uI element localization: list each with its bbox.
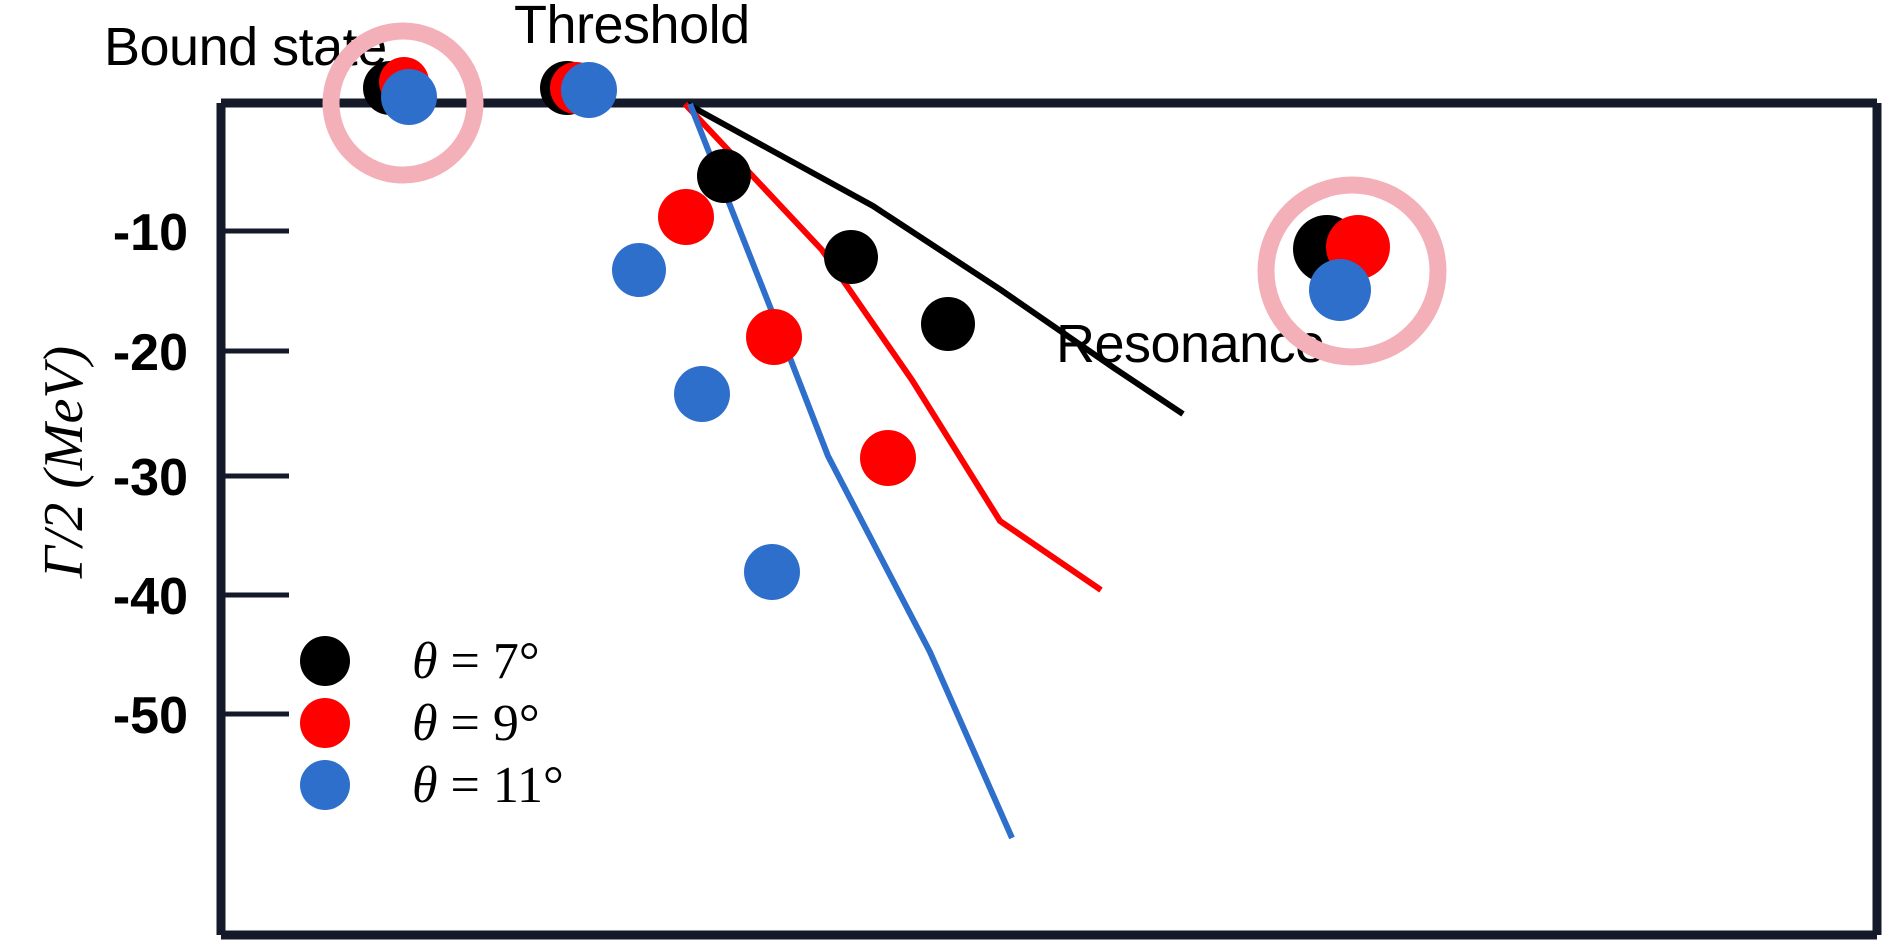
legend-symbol: θ	[412, 757, 438, 814]
legend-item-theta-11: θ = 11°	[300, 754, 564, 816]
threshold-cluster	[540, 61, 617, 118]
data-point	[658, 189, 714, 245]
data-point	[697, 149, 751, 203]
data-point	[860, 430, 916, 486]
y-tick-marks	[224, 231, 289, 714]
legend-value: 7	[493, 633, 519, 690]
legend-label-theta-9: θ = 9°	[412, 694, 540, 753]
legend-degree: °	[543, 757, 564, 814]
legend-label-theta-7: θ = 7°	[412, 632, 540, 691]
series-points-theta-9	[658, 189, 916, 486]
legend-equals: =	[438, 633, 493, 690]
legend-value: 11	[493, 757, 543, 814]
data-point	[824, 230, 878, 284]
series-points-theta-11	[612, 243, 800, 600]
legend-swatch-theta-9	[300, 698, 350, 748]
legend-degree: °	[519, 695, 540, 752]
resonance-cluster	[1293, 215, 1390, 321]
point-theta-11-threshold	[561, 62, 617, 118]
series-line-theta-7	[687, 104, 1183, 414]
legend-item-theta-9: θ = 9°	[300, 692, 564, 754]
point-theta-11-bound	[381, 69, 437, 125]
data-point	[746, 309, 802, 365]
legend-degree: °	[519, 633, 540, 690]
plot-canvas	[0, 0, 1886, 949]
legend-item-theta-7: θ = 7°	[300, 630, 564, 692]
legend-equals: =	[438, 757, 493, 814]
legend-equals: =	[438, 695, 493, 752]
legend-symbol: θ	[412, 695, 438, 752]
series-points-theta-7	[697, 149, 975, 351]
bound-state-cluster	[363, 57, 437, 125]
legend-value: 9	[493, 695, 519, 752]
data-point	[612, 243, 666, 297]
legend-symbol: θ	[412, 633, 438, 690]
legend-swatch-theta-11	[300, 760, 350, 810]
legend: θ = 7° θ = 9° θ = 11°	[300, 630, 564, 816]
point-theta-11-resonance	[1309, 259, 1371, 321]
resonance-trajectory-chart: -10 -20 -30 -40 -50 Γ/2 (MeV) Bound stat…	[0, 0, 1886, 949]
data-point	[744, 544, 800, 600]
data-point	[674, 366, 730, 422]
legend-label-theta-11: θ = 11°	[412, 756, 564, 815]
data-point	[921, 297, 975, 351]
series-line-theta-11	[690, 104, 1012, 838]
legend-swatch-theta-7	[300, 636, 350, 686]
